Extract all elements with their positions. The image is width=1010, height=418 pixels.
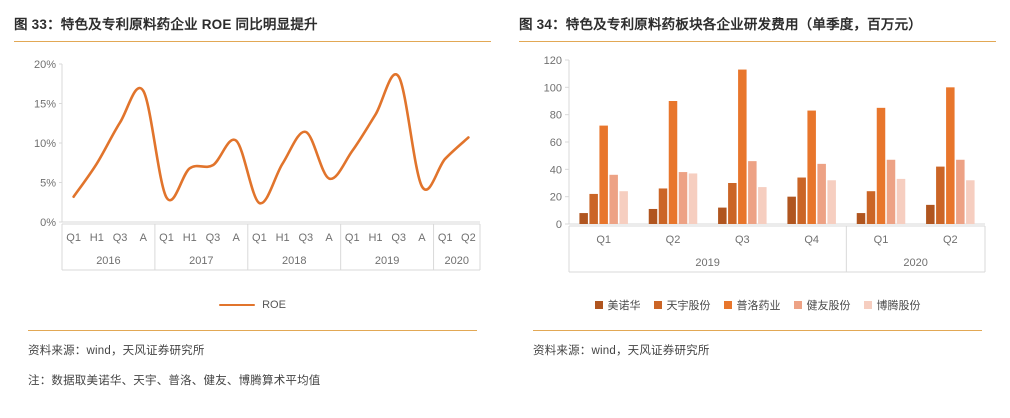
rd-y-tick-80: 80 xyxy=(550,110,562,122)
legend-item-roe[interactable]: ROE xyxy=(219,299,286,311)
rd-bar-美诺华-Q4 xyxy=(787,197,796,224)
rd-x-tick-label: Q2 xyxy=(943,234,958,246)
rd-bar-普洛药业-Q2 xyxy=(946,87,955,224)
roe-y-tick-20%: 20% xyxy=(34,59,56,71)
rd-y-tick-120: 120 xyxy=(544,55,562,67)
roe-y-tick-5%: 5% xyxy=(40,178,56,190)
rd-bar-普洛药业-Q4 xyxy=(807,111,816,224)
roe-y-tick-10%: 10% xyxy=(34,138,56,150)
roe-y-axis-labels: 0%5%10%15%20% xyxy=(34,59,62,229)
figure-34-title: 图 34：特色及专利原料药板块各企业研发费用（单季度，百万元） xyxy=(519,0,996,33)
rd-bar-健友股份-Q2 xyxy=(679,172,688,224)
figure-34-panel: 图 34：特色及专利原料药板块各企业研发费用（单季度，百万元） 02040608… xyxy=(505,0,1010,418)
roe-x-group-2016: 2016 xyxy=(96,255,120,267)
figure-33-panel: 图 33：特色及专利原料药企业 ROE 同比明显提升 0%5%10%15%20%… xyxy=(0,0,505,418)
rd-y-tick-0: 0 xyxy=(556,219,562,231)
figure-33-title: 图 33：特色及专利原料药企业 ROE 同比明显提升 xyxy=(14,0,491,33)
roe-x-tick-label: Q1 xyxy=(438,232,453,244)
rd-y-tick-100: 100 xyxy=(544,82,562,94)
figure-34-legend: 美诺华天宇股份普洛药业健友股份博腾股份 xyxy=(519,292,996,318)
rd-bars-group xyxy=(579,70,974,224)
rd-bar-天宇股份-Q2 xyxy=(936,167,945,224)
legend-swatch-icon xyxy=(654,301,662,309)
rd-bar-普洛药业-Q1 xyxy=(877,108,886,224)
rd-bar-健友股份-Q3 xyxy=(748,161,757,224)
roe-line-chart-svg: 0%5%10%15%20% Q1H1Q3AQ1H1Q3AQ1H1Q3AQ1H1Q… xyxy=(14,42,491,292)
roe-x-axis-tick-labels: Q1H1Q3AQ1H1Q3AQ1H1Q3AQ1H1Q3AQ1Q2 xyxy=(66,232,475,244)
figure-33-note: 注：数据取美诺华、天宇、普洛、健友、博腾算术平均值 xyxy=(28,358,477,388)
roe-x-tick-label: Q1 xyxy=(345,232,360,244)
legend-label-roe: ROE xyxy=(262,299,286,311)
roe-x-tick-label: Q3 xyxy=(298,232,313,244)
rd-bar-美诺华-Q3 xyxy=(718,208,727,224)
rd-y-tick-20: 20 xyxy=(550,192,562,204)
rd-x-group-2020: 2020 xyxy=(903,257,927,269)
rd-bar-天宇股份-Q1 xyxy=(589,194,598,224)
roe-x-tick-label: H1 xyxy=(276,232,290,244)
rd-x-tick-label: Q4 xyxy=(804,234,819,246)
roe-x-axis-group-labels: 20162017201820192020 xyxy=(96,255,469,267)
rd-bar-天宇股份-Q3 xyxy=(728,183,737,224)
rd-bar-美诺华-Q1 xyxy=(857,213,866,224)
rd-bar-博腾股份-Q1 xyxy=(619,191,628,224)
rd-bar-普洛药业-Q2 xyxy=(669,101,678,224)
rd-bar-博腾股份-Q2 xyxy=(966,180,975,224)
rd-bar-博腾股份-Q1 xyxy=(897,179,906,224)
rd-bar-健友股份-Q1 xyxy=(609,175,618,224)
rd-y-tick-60: 60 xyxy=(550,137,562,149)
roe-x-tick-label: Q3 xyxy=(391,232,406,244)
roe-x-tick-label: Q1 xyxy=(252,232,267,244)
legend-swatch-icon xyxy=(724,301,732,309)
roe-y-tick-0%: 0% xyxy=(40,217,56,229)
legend-item-健友股份[interactable]: 健友股份 xyxy=(794,297,851,313)
rd-y-tick-40: 40 xyxy=(550,164,562,176)
legend-item-博腾股份[interactable]: 博腾股份 xyxy=(864,297,921,313)
rd-bar-健友股份-Q4 xyxy=(817,164,826,224)
rd-x-tick-label: Q3 xyxy=(735,234,750,246)
rd-x-group-2019: 2019 xyxy=(695,257,719,269)
rd-x-tick-label: Q1 xyxy=(596,234,611,246)
roe-x-tick-label: Q3 xyxy=(113,232,128,244)
figure-34-source: 资料来源：wind，天风证券研究所 xyxy=(533,331,982,358)
legend-label: 美诺华 xyxy=(608,297,641,313)
rd-bar-美诺华-Q2 xyxy=(926,205,935,224)
rd-x-axis-tick-labels: Q1Q2Q3Q4Q1Q2 xyxy=(596,234,957,246)
rd-x-tick-label: Q2 xyxy=(666,234,681,246)
roe-x-axis-separators xyxy=(62,224,480,270)
rd-expense-bar-chart-svg: 020406080100120 Q1Q2Q3Q4Q1Q2 20192020 xyxy=(519,42,996,292)
roe-x-tick-label: A xyxy=(140,232,148,244)
roe-x-tick-label: H1 xyxy=(183,232,197,244)
roe-x-tick-label: A xyxy=(325,232,333,244)
legend-label: 普洛药业 xyxy=(737,297,781,313)
rd-x-axis-group-labels: 20192020 xyxy=(695,257,927,269)
roe-x-tick-label: A xyxy=(418,232,426,244)
rd-bar-健友股份-Q2 xyxy=(956,160,965,224)
legend-swatch-icon xyxy=(595,301,603,309)
rd-x-tick-label: Q1 xyxy=(874,234,889,246)
roe-series-line xyxy=(74,74,469,203)
roe-x-group-2019: 2019 xyxy=(375,255,399,267)
rd-bar-普洛药业-Q1 xyxy=(599,126,608,224)
figure-34-footer: 资料来源：wind，天风证券研究所 xyxy=(533,330,982,358)
legend-item-天宇股份[interactable]: 天宇股份 xyxy=(654,297,711,313)
roe-x-tick-label: H1 xyxy=(90,232,104,244)
roe-x-tick-label: Q3 xyxy=(206,232,221,244)
roe-x-group-2017: 2017 xyxy=(189,255,213,267)
legend-swatch-icon xyxy=(864,301,872,309)
figure-pair-container: 图 33：特色及专利原料药企业 ROE 同比明显提升 0%5%10%15%20%… xyxy=(0,0,1010,418)
roe-x-tick-label: Q1 xyxy=(159,232,174,244)
rd-bar-天宇股份-Q2 xyxy=(659,188,668,224)
legend-swatch-icon xyxy=(794,301,802,309)
legend-item-普洛药业[interactable]: 普洛药业 xyxy=(724,297,781,313)
figure-33-chart: 0%5%10%15%20% Q1H1Q3AQ1H1Q3AQ1H1Q3AQ1H1Q… xyxy=(14,42,491,292)
legend-item-美诺华[interactable]: 美诺华 xyxy=(595,297,641,313)
roe-x-tick-label: H1 xyxy=(368,232,382,244)
rd-bar-美诺华-Q1 xyxy=(579,213,588,224)
legend-label: 健友股份 xyxy=(807,297,851,313)
figure-34-chart: 020406080100120 Q1Q2Q3Q4Q1Q2 20192020 xyxy=(519,42,996,292)
rd-y-axis-labels: 020406080100120 xyxy=(544,55,569,231)
rd-bar-博腾股份-Q4 xyxy=(827,180,836,224)
rd-bar-普洛药业-Q3 xyxy=(738,70,747,224)
legend-label: 天宇股份 xyxy=(667,297,711,313)
legend-label: 博腾股份 xyxy=(877,297,921,313)
roe-y-tick-15%: 15% xyxy=(34,99,56,111)
rd-bar-天宇股份-Q1 xyxy=(867,191,876,224)
roe-x-group-2018: 2018 xyxy=(282,255,306,267)
figure-33-legend: ROE xyxy=(14,292,491,318)
roe-x-tick-label: Q1 xyxy=(66,232,81,244)
figure-33-source: 资料来源：wind，天风证券研究所 xyxy=(28,331,477,358)
rd-bar-健友股份-Q1 xyxy=(887,160,896,224)
legend-line-swatch-icon xyxy=(219,304,255,307)
rd-bar-博腾股份-Q2 xyxy=(689,173,698,224)
figure-33-footer: 资料来源：wind，天风证券研究所 注：数据取美诺华、天宇、普洛、健友、博腾算术… xyxy=(28,330,477,388)
rd-bar-天宇股份-Q4 xyxy=(797,178,806,224)
roe-x-tick-label: A xyxy=(232,232,240,244)
roe-x-group-2020: 2020 xyxy=(445,255,469,267)
rd-bar-博腾股份-Q3 xyxy=(758,187,767,224)
rd-bar-美诺华-Q2 xyxy=(649,209,658,224)
roe-x-tick-label: Q2 xyxy=(461,232,476,244)
